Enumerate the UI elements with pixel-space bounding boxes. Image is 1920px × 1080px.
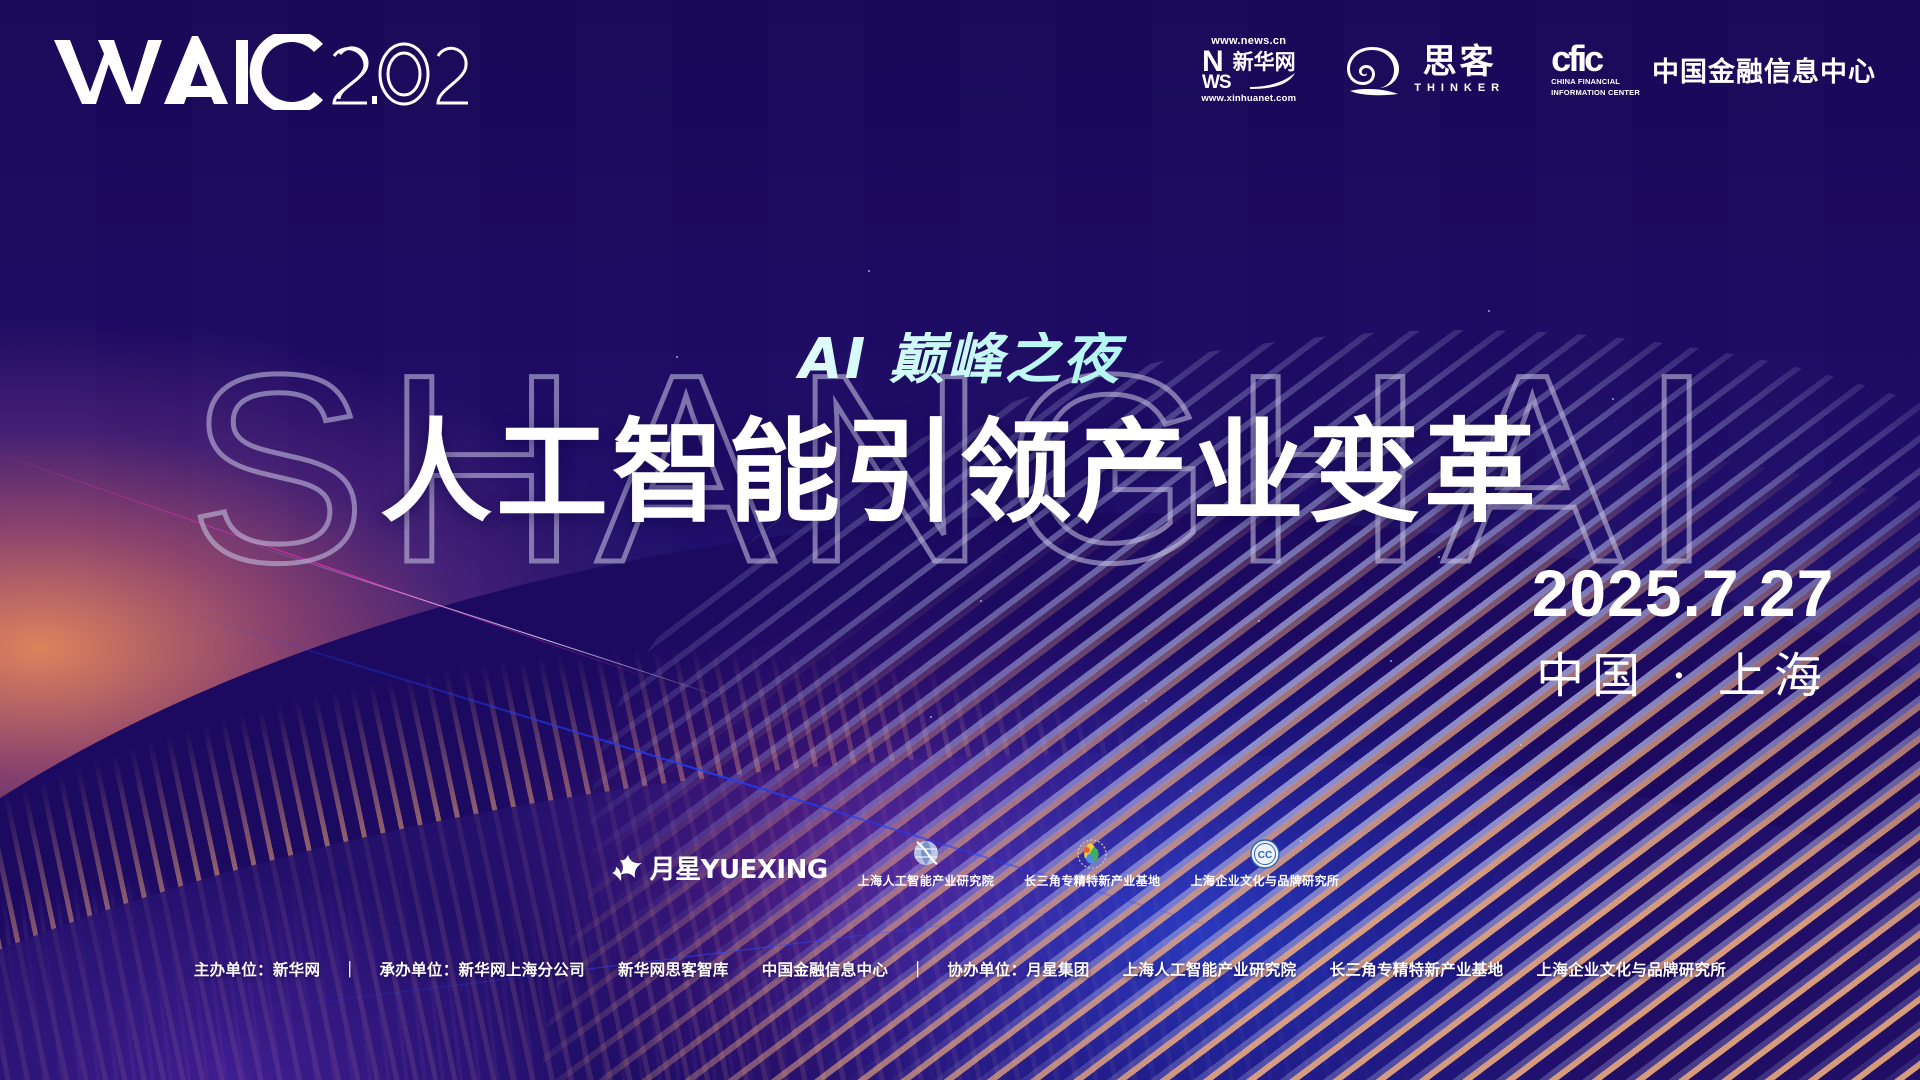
footer-organizer-3: 中国金融信息中心 <box>762 961 888 979</box>
footer-coorganizer-3: 长三角专精特新产业基地 <box>1330 961 1504 979</box>
event-headline: 人工智能引领产业变革 <box>0 415 1920 533</box>
cfic-cn-name: 中国金融信息中心 <box>1652 50 1876 89</box>
cfic-en-line1: CHINA FINANCIAL <box>1551 77 1640 86</box>
logo-xinhuanet: www.news.cn N WS 新华网 www.xi <box>1201 36 1296 104</box>
cfic-en-line2: INFORMATION CENTER <box>1551 88 1640 97</box>
footer-separator-2: ｜ <box>894 961 942 979</box>
event-subtitle: AI 巅峰之夜 <box>0 332 1920 388</box>
seal-circle-icon: CC <box>1249 838 1281 870</box>
sponsor-yuexing: 月星YUEXING <box>611 853 828 887</box>
yuexing-wordmark: 月星YUEXING <box>650 857 828 883</box>
waic-logo <box>52 34 472 110</box>
xinhua-letter-ws: WS <box>1202 75 1231 91</box>
footer-separator-1: ｜ <box>326 961 374 979</box>
sponsor-shanghai-brand-institute: CC 上海企业文化与品牌研究所 <box>1191 838 1340 887</box>
xinhua-url-bottom: www.xinhuanet.com <box>1201 94 1296 104</box>
header: www.news.cn N WS 新华网 www.xi <box>0 0 1920 140</box>
footer-credits: 主办单位：新华网 ｜ 承办单位：新华网上海分公司 新华网思客智库 中国金融信息中… <box>0 958 1920 980</box>
sponsor-logo-row: 月星YUEXING 上海人工智能产业研究院 长三角专精特新产业基地 <box>0 838 1920 887</box>
footer-organizer-2: 新华网思客智库 <box>618 961 729 979</box>
thinker-en-name: THINKER <box>1414 83 1505 94</box>
footer-coorganizer-2: 上海人工智能产业研究院 <box>1123 961 1297 979</box>
sparkle-stars <box>0 0 1920 1080</box>
xinhua-swoosh-icon <box>1250 73 1296 89</box>
footer-coorganizer: 协办单位：月星集团 <box>947 961 1089 979</box>
footer-host: 主办单位：新华网 <box>194 961 320 979</box>
sponsor-name-1: 上海人工智能产业研究院 <box>858 875 994 887</box>
event-location: 中国 · 上海 <box>1518 652 1848 700</box>
date-location-block: 2025.7.27 中国 · 上海 <box>1518 560 1848 700</box>
logo-cfic: cfic CHINA FINANCIAL INFORMATION CENTER … <box>1551 42 1876 98</box>
sponsor-shanghai-ai-institute: 上海人工智能产业研究院 <box>858 838 994 887</box>
sponsor-name-2: 长三角专精特新产业基地 <box>1024 875 1160 887</box>
xinhua-n-mark: N WS <box>1202 49 1231 91</box>
globe-icon <box>910 838 942 870</box>
colorful-circle-icon <box>1076 838 1108 870</box>
xinhua-cn-name: 新华网 <box>1233 52 1296 73</box>
sponsor-yangtze-delta-base: 长三角专精特新产业基地 <box>1024 838 1160 887</box>
footer-coorganizer-4: 上海企业文化与品牌研究所 <box>1537 961 1727 979</box>
thinker-cn-name: 思客 <box>1423 45 1497 79</box>
svg-text:CC: CC <box>1258 850 1272 861</box>
xinhua-letter-n: N <box>1202 49 1224 75</box>
sponsor-name-3: 上海企业文化与品牌研究所 <box>1191 875 1340 887</box>
cfic-wordmark: cfic <box>1551 42 1640 75</box>
logo-thinker: 思客 THINKER <box>1342 41 1505 99</box>
thinker-swirl-icon <box>1342 41 1404 99</box>
yuexing-star-icon <box>611 853 645 887</box>
poster-canvas: SHANGHAI <box>0 0 1920 1080</box>
header-partner-logos: www.news.cn N WS 新华网 www.xi <box>1201 34 1876 104</box>
footer-organizer: 承办单位：新华网上海分公司 <box>380 961 585 979</box>
event-date: 2025.7.27 <box>1518 560 1848 626</box>
